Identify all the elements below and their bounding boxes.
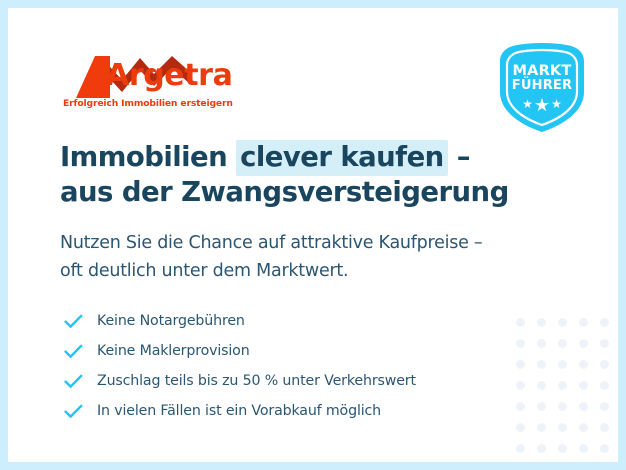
decoration-dot [558, 318, 567, 327]
shield-icon [498, 42, 586, 134]
decoration-dot [579, 318, 588, 327]
decoration-dot [558, 444, 567, 453]
market-leader-badge: MARKT FÜHRER ★★★ [498, 42, 586, 134]
check-icon [64, 314, 88, 329]
decoration-dot [537, 381, 546, 390]
headline-line-2: aus der Zwangsversteigerung [60, 175, 560, 210]
decoration-dot [600, 444, 609, 453]
logo-tagline: Erfolgreich Immobilien ersteigern [63, 98, 233, 109]
subtitle-line-1: Nutzen Sie die Chance auf attraktive Kau… [60, 230, 580, 258]
promo-banner: Argetra Erfolgreich Immobilien ersteiger… [0, 0, 626, 470]
list-item-label: Keine Notargebühren [88, 313, 245, 329]
decoration-dot [558, 423, 567, 432]
decoration-dot [579, 381, 588, 390]
decoration-dot [600, 318, 609, 327]
decoration-dot [537, 402, 546, 411]
list-item-label: Zuschlag teils bis zu 50 % unter Verkehr… [88, 373, 416, 389]
decoration-dot [537, 360, 546, 369]
benefit-list: Keine Notargebühren Keine Maklerprovisio… [64, 306, 534, 426]
headline-text-after: – [448, 141, 470, 173]
list-item: Keine Notargebühren [64, 306, 534, 336]
decoration-dot [579, 402, 588, 411]
decoration-dot [600, 339, 609, 348]
logo-wordmark: Argetra [106, 61, 232, 91]
decoration-dot [537, 318, 546, 327]
decoration-dot [600, 402, 609, 411]
headline-line-1: Immobilien clever kaufen – [60, 140, 560, 175]
list-item: Zuschlag teils bis zu 50 % unter Verkehr… [64, 366, 534, 396]
decoration-dot [600, 381, 609, 390]
decoration-dot [558, 360, 567, 369]
decoration-dot [537, 444, 546, 453]
list-item: Keine Maklerprovision [64, 336, 534, 366]
check-icon [64, 404, 88, 419]
argetra-logo[interactable]: Argetra Erfolgreich Immobilien ersteiger… [62, 50, 252, 112]
decoration-dot [558, 381, 567, 390]
decoration-dot [537, 339, 546, 348]
list-item-label: Keine Maklerprovision [88, 343, 250, 359]
list-item: In vielen Fällen ist ein Vorabkauf mögli… [64, 396, 534, 426]
list-item-label: In vielen Fällen ist ein Vorabkauf mögli… [88, 403, 381, 419]
subtitle-line-2: oft deutlich unter dem Marktwert. [60, 258, 580, 286]
decoration-dot [579, 339, 588, 348]
decoration-dot [579, 444, 588, 453]
decoration-dot [537, 423, 546, 432]
decoration-dot [558, 339, 567, 348]
headline-highlight: clever kaufen [236, 140, 448, 176]
page-subtitle: Nutzen Sie die Chance auf attraktive Kau… [60, 230, 580, 285]
check-icon [64, 344, 88, 359]
decoration-dot [558, 402, 567, 411]
decoration-dot [579, 423, 588, 432]
headline-text-before: Immobilien [60, 141, 236, 173]
decoration-dot [600, 360, 609, 369]
decoration-dot [600, 423, 609, 432]
promo-card: Argetra Erfolgreich Immobilien ersteiger… [8, 8, 618, 462]
page-title: Immobilien clever kaufen – aus der Zwang… [60, 140, 560, 210]
decoration-dot [516, 444, 525, 453]
check-icon [64, 374, 88, 389]
decoration-dot [579, 360, 588, 369]
